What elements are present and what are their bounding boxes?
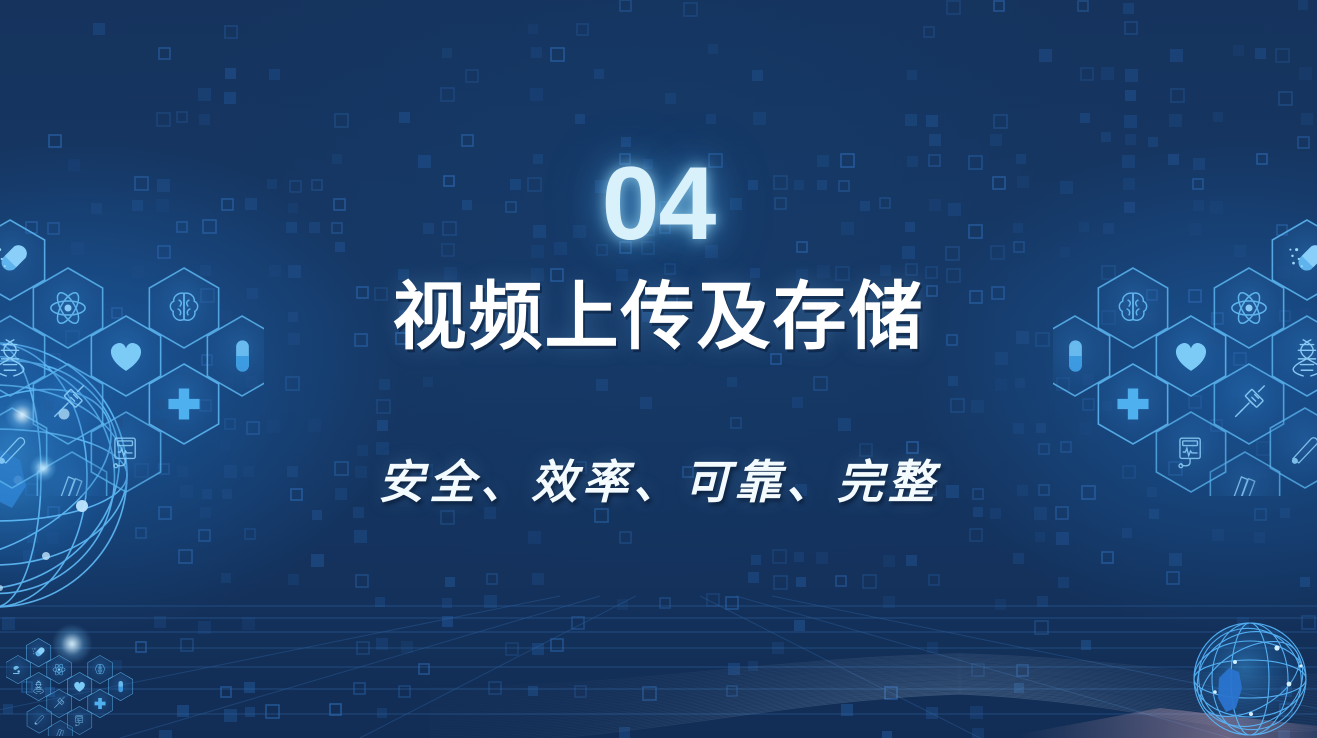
page-title: 视频上传及存储	[393, 278, 925, 356]
slide-subtitle: 安全、效率、可靠、完整	[378, 457, 939, 508]
slide-content: 04 视频上传及存储 安全、效率、可靠、完整	[0, 0, 1317, 738]
presentation-slide: 04 视频上传及存储 安全、效率、可靠、完整	[0, 0, 1317, 738]
section-number: 04	[602, 152, 716, 256]
